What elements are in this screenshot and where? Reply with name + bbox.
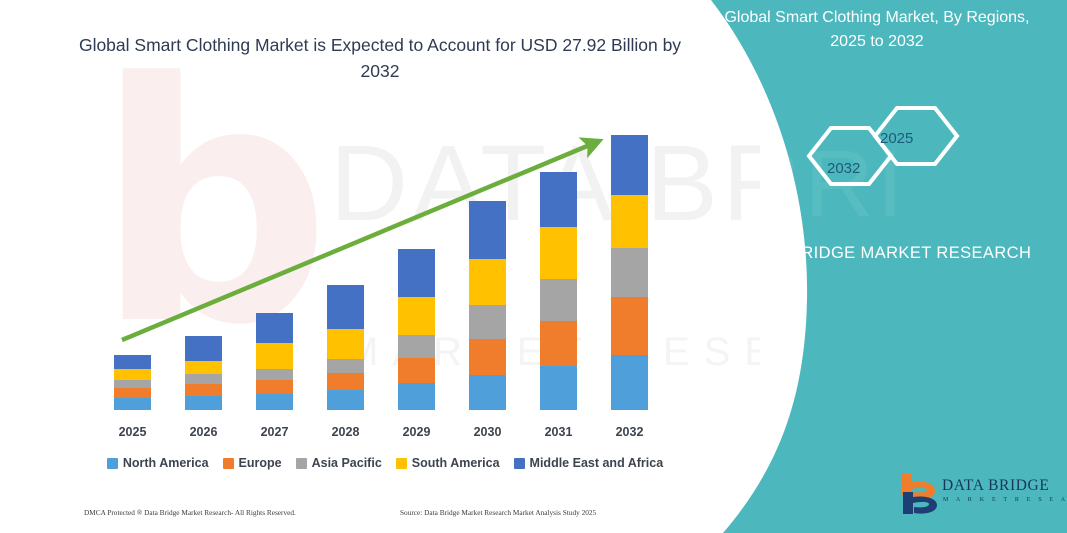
legend-item-north-america[interactable]: North America [107,456,209,470]
legend-item-south-america[interactable]: South America [396,456,500,470]
footer-source: Source: Data Bridge Market Research Mark… [400,508,596,517]
hexagon-pair [787,98,1047,208]
x-axis-label-2032: 2032 [595,425,665,439]
x-axis-label-2026: 2026 [169,425,239,439]
brand-panel-title: Global Smart Clothing Market, By Regions… [707,6,1047,54]
legend-swatch-icon [223,458,234,469]
brand-panel: DBRI Global Smart Clothing Market, By Re… [687,0,1067,533]
x-axis-label-2027: 2027 [240,425,310,439]
x-axis-labels: 20252026202720282029203020312032 [0,0,760,533]
x-axis-label-2031: 2031 [524,425,594,439]
x-axis-label-2028: 2028 [311,425,381,439]
logo: DATA BRIDGE M A R K E T R E S E A R C H [895,472,1067,520]
logo-mark-icon [895,472,941,516]
logo-title: DATA BRIDGE [942,477,1049,495]
legend-item-europe[interactable]: Europe [223,456,282,470]
legend-label: Middle East and Africa [530,456,664,470]
legend-item-middle-east-and-africa[interactable]: Middle East and Africa [514,456,664,470]
legend-swatch-icon [107,458,118,469]
legend-label: South America [412,456,500,470]
legend-label: Europe [239,456,282,470]
legend-swatch-icon [514,458,525,469]
x-axis-label-2030: 2030 [453,425,523,439]
chart-legend: North AmericaEuropeAsia PacificSouth Ame… [90,456,680,470]
footer-copyright: DMCA Protected ® Data Bridge Market Rese… [84,508,296,517]
chart-panel: b DATA BRIDGE MARKET RESEARCH Global Sma… [0,0,760,533]
infographic-root: b DATA BRIDGE MARKET RESEARCH Global Sma… [0,0,1067,533]
legend-label: North America [123,456,209,470]
legend-item-asia-pacific[interactable]: Asia Pacific [296,456,382,470]
legend-swatch-icon [296,458,307,469]
legend-label: Asia Pacific [312,456,382,470]
hexagon-label-end: 2032 [827,160,860,177]
x-axis-label-2029: 2029 [382,425,452,439]
hexagon-label-start: 2025 [880,130,913,147]
legend-swatch-icon [396,458,407,469]
logo-subtitle: M A R K E T R E S E A R C H [943,497,1067,503]
x-axis-label-2025: 2025 [98,425,168,439]
brand-name: DATA BRIDGE MARKET RESEARCH [727,240,1047,267]
